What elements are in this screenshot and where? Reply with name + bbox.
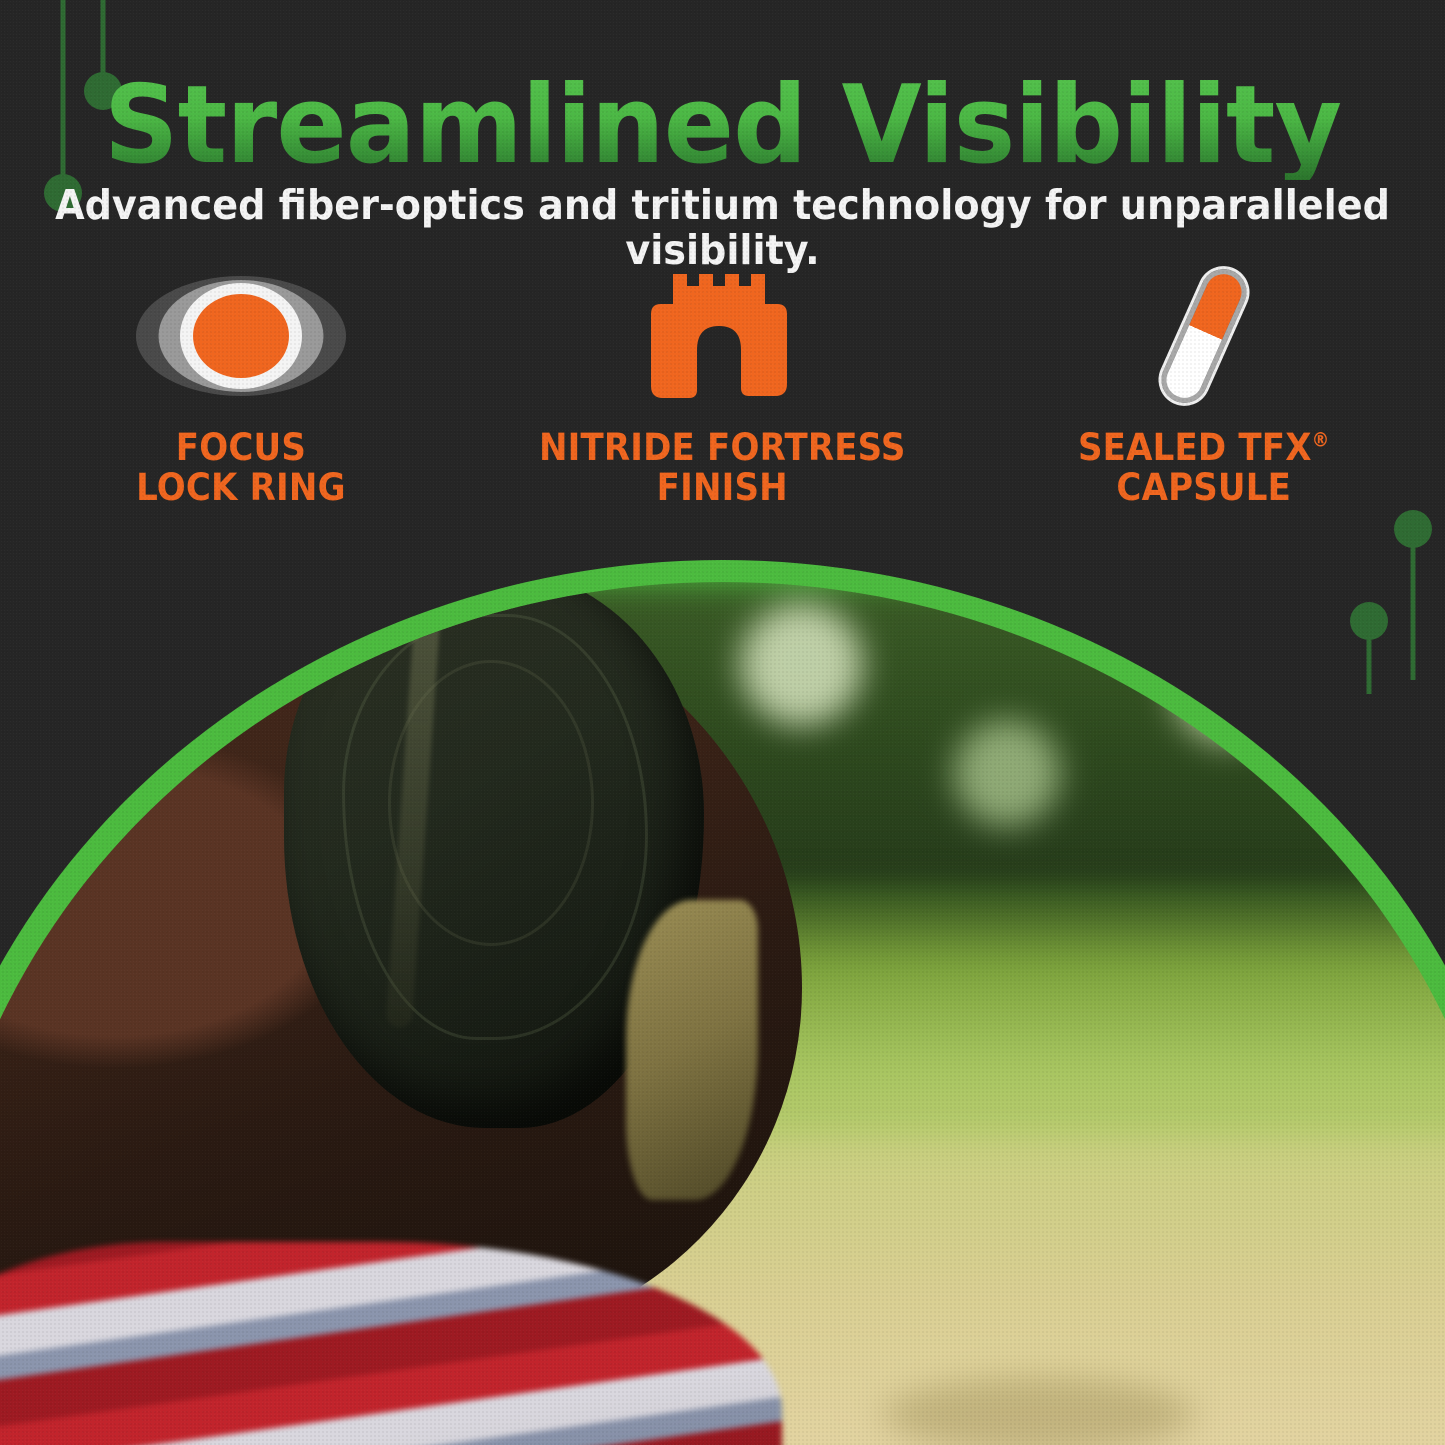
capsule-shape bbox=[1154, 262, 1254, 410]
feature-label-focus-lock-ring: FOCUS LOCK RING bbox=[136, 428, 346, 508]
ring-core-orange bbox=[193, 294, 289, 378]
photo-dome-zone bbox=[0, 560, 1445, 1445]
feature-label-line1: SEALED TFX bbox=[1078, 426, 1312, 469]
feature-focus-lock-ring: FOCUS LOCK RING bbox=[0, 272, 482, 508]
feature-label-line2: CAPSULE bbox=[1117, 466, 1292, 509]
feature-label-line1: FOCUS bbox=[176, 426, 306, 469]
feature-sealed-tfx-capsule: SEALED TFX® CAPSULE bbox=[963, 272, 1445, 508]
feature-nitride-fortress: NITRIDE FORTRESS FINISH bbox=[482, 272, 964, 508]
sealed-tfx-capsule-icon bbox=[1181, 272, 1227, 400]
feature-row: FOCUS LOCK RING NITRIDE FORTRESS FINISH … bbox=[0, 272, 1445, 508]
feature-label-nitride-fortress: NITRIDE FORTRESS FINISH bbox=[539, 428, 906, 508]
page-title: Streamlined Visibility bbox=[29, 72, 1416, 180]
feature-label-line1: NITRIDE FORTRESS bbox=[539, 426, 906, 469]
focus-lock-ring-icon bbox=[136, 272, 346, 400]
page-subtitle: Advanced fiber-optics and tritium techno… bbox=[51, 183, 1395, 273]
ear-protection-strap bbox=[386, 582, 445, 1028]
feature-label-line2: FINISH bbox=[657, 466, 788, 509]
range-photo bbox=[0, 582, 1445, 1445]
registered-trademark-mark: ® bbox=[1312, 429, 1330, 452]
promo-poster: Streamlined Visibility Advanced fiber-op… bbox=[0, 0, 1445, 1445]
feature-label-sealed-tfx-capsule: SEALED TFX® CAPSULE bbox=[1078, 428, 1330, 508]
feature-label-line2: LOCK RING bbox=[136, 466, 346, 509]
shooter-neck bbox=[626, 900, 758, 1200]
nitride-fortress-icon bbox=[639, 272, 807, 400]
